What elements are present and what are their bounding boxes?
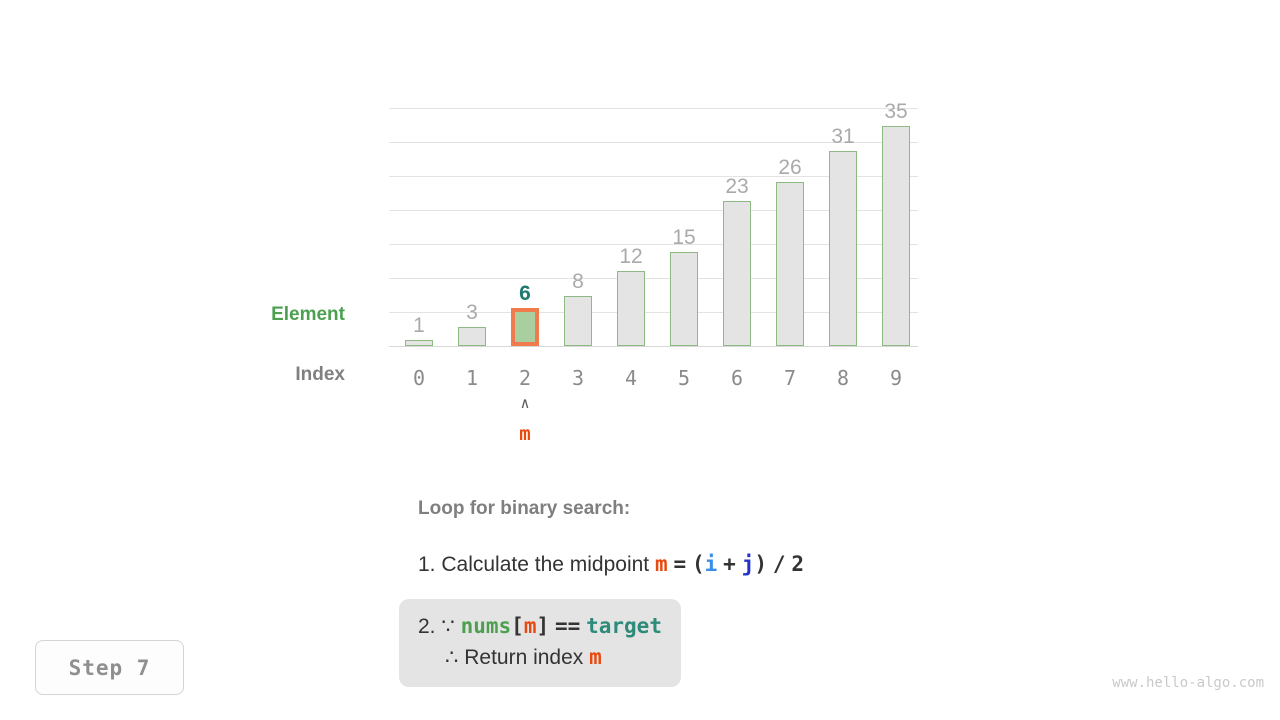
explanation-step-2-line-1: 2. ∵ nums[m] == target xyxy=(418,611,662,642)
explanation-step-2-line-2: ∴ Return index m xyxy=(445,642,662,673)
bar-value-label: 3 xyxy=(445,301,499,325)
index-label-4: 4 xyxy=(604,366,658,390)
step-2-return-text: Return index xyxy=(464,646,583,669)
step-2-return-var-m: m xyxy=(589,645,602,669)
explanation-title: Loop for binary search: xyxy=(418,496,959,522)
step-2-nums: nums xyxy=(461,614,512,638)
watermark: www.hello-algo.com xyxy=(1112,675,1264,691)
bar-value-label: 31 xyxy=(816,125,870,149)
step-1-paren-close: ) xyxy=(754,552,767,576)
step-1-equals: = xyxy=(674,552,687,576)
step-badge: Step 7 xyxy=(35,640,184,695)
bar-value-label: 26 xyxy=(763,156,817,180)
index-label-3: 3 xyxy=(551,366,605,390)
step-1-var-j: j xyxy=(742,552,755,576)
step-2-number: 2. xyxy=(418,615,436,638)
step-1-number: 1. xyxy=(418,553,436,576)
explanation-step-2-highlight-box: 2. ∵ nums[m] == target ∴ Return index m xyxy=(399,599,681,687)
step-2-bracket-close: ] xyxy=(536,614,549,638)
step-1-paren-open: ( xyxy=(692,552,705,576)
index-label-0: 0 xyxy=(392,366,446,390)
step-2-eqeq: == xyxy=(555,614,580,638)
bar-highlighted xyxy=(511,308,539,346)
caret-up-icon: ∧ xyxy=(498,396,552,410)
step-2-therefore-symbol: ∴ xyxy=(445,646,458,669)
bar-value-label: 23 xyxy=(710,175,764,199)
index-axis-caption: Index xyxy=(180,364,345,386)
pointer-marker-m: ∧ m xyxy=(498,396,552,444)
bar xyxy=(829,151,857,346)
index-label-5: 5 xyxy=(657,366,711,390)
index-label-9: 9 xyxy=(869,366,923,390)
step-1-var-m: m xyxy=(655,552,668,576)
step-1-plus: + xyxy=(723,552,736,576)
bar-value-label: 35 xyxy=(869,100,923,124)
index-label-1: 1 xyxy=(445,366,499,390)
bar xyxy=(776,182,804,346)
gridline xyxy=(389,108,918,109)
bar-value-label: 6 xyxy=(498,282,552,306)
bar xyxy=(670,252,698,346)
index-tick-row: 0123456789 xyxy=(389,366,918,394)
index-label-6: 6 xyxy=(710,366,764,390)
bar xyxy=(458,327,486,346)
bar xyxy=(405,340,433,346)
bar-value-label: 15 xyxy=(657,226,711,250)
step-1-var-i: i xyxy=(705,552,718,576)
explanation-step-1: 1. Calculate the midpoint m = (i + j) / … xyxy=(418,549,959,580)
bar xyxy=(723,201,751,346)
element-axis-caption: Element xyxy=(180,304,345,326)
step-2-bracket-open: [ xyxy=(511,614,524,638)
index-label-7: 7 xyxy=(763,366,817,390)
bar-value-label: 1 xyxy=(392,314,446,338)
pointer-label-m: m xyxy=(498,424,552,444)
explanation-block: Loop for binary search: 1. Calculate the… xyxy=(399,496,959,687)
step-1-two: 2 xyxy=(791,552,804,576)
bar xyxy=(617,271,645,346)
x-axis-line xyxy=(389,346,918,347)
step-2-var-m: m xyxy=(524,614,537,638)
index-label-8: 8 xyxy=(816,366,870,390)
bar-value-label: 8 xyxy=(551,270,605,294)
bar-chart: 1368121523263135 xyxy=(389,108,918,347)
bar xyxy=(882,126,910,346)
bar xyxy=(564,296,592,346)
step-2-target: target xyxy=(586,614,662,638)
step-1-slash: / xyxy=(773,552,786,576)
bar-value-label: 12 xyxy=(604,245,658,269)
step-2-because-symbol: ∵ xyxy=(441,615,454,638)
index-label-2: 2 xyxy=(498,366,552,390)
step-1-text: Calculate the midpoint xyxy=(441,553,649,576)
